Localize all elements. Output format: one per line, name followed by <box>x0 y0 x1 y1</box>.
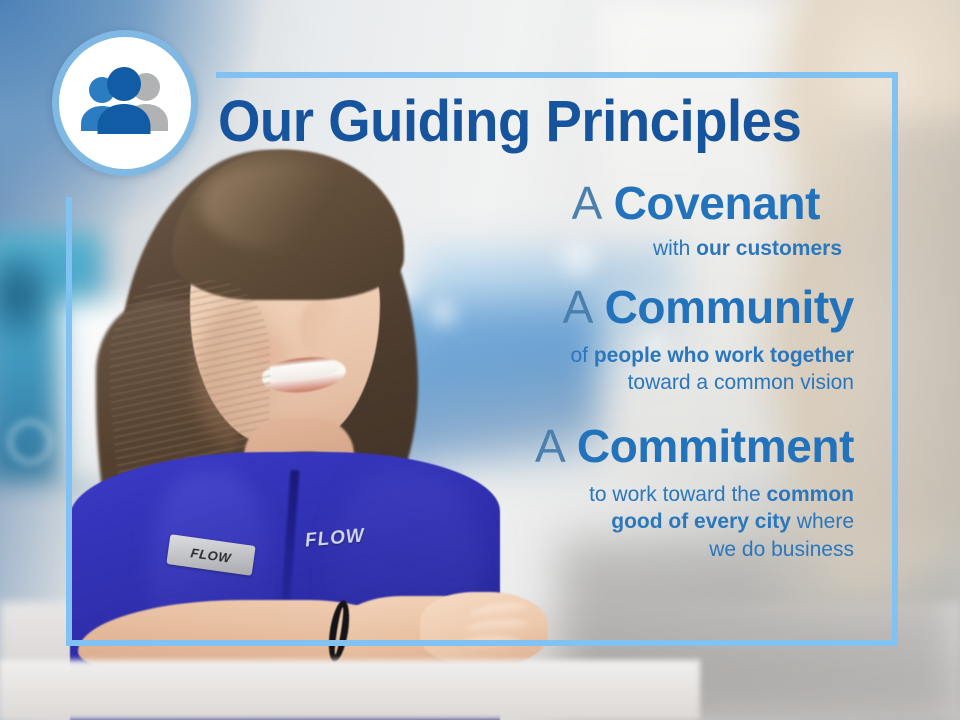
principle-article: A <box>572 177 614 229</box>
guiding-principles-graphic: FLOW FLOW Our Guiding Princip <box>0 0 960 720</box>
principle-subtext: to work toward the common good of every … <box>140 481 854 564</box>
principle-title: A Community <box>140 282 854 334</box>
white-table-top <box>0 660 700 720</box>
principle-title: A Commitment <box>140 421 854 473</box>
principle-subline: good of every city where <box>140 508 854 536</box>
principle-covenant: A Covenant with our customers <box>140 178 820 262</box>
page-title: Our Guiding Principles <box>218 93 838 151</box>
principles-list: A Covenant with our customers A Communit… <box>140 178 882 568</box>
principle-title: A Covenant <box>140 178 820 230</box>
principle-article: A <box>563 281 605 333</box>
principle-keyword: Covenant <box>614 177 820 229</box>
principle-keyword: Commitment <box>577 420 854 472</box>
principle-subtext: of people who work together toward a com… <box>140 342 854 397</box>
principle-subline: to work toward the common <box>140 481 854 509</box>
principle-commitment: A Commitment to work toward the common g… <box>140 421 854 564</box>
principle-subline: of people who work together <box>140 342 854 370</box>
group-of-people-badge <box>52 30 198 176</box>
principle-community: A Community of people who work together … <box>140 282 854 397</box>
principle-subline: we do business <box>140 536 854 564</box>
principle-article: A <box>535 420 577 472</box>
principle-subline: with our customers <box>140 235 842 263</box>
group-of-people-icon <box>73 66 177 140</box>
principle-keyword: Community <box>605 281 854 333</box>
principle-subline: toward a common vision <box>140 369 854 397</box>
principle-subtext: with our customers <box>140 235 842 263</box>
